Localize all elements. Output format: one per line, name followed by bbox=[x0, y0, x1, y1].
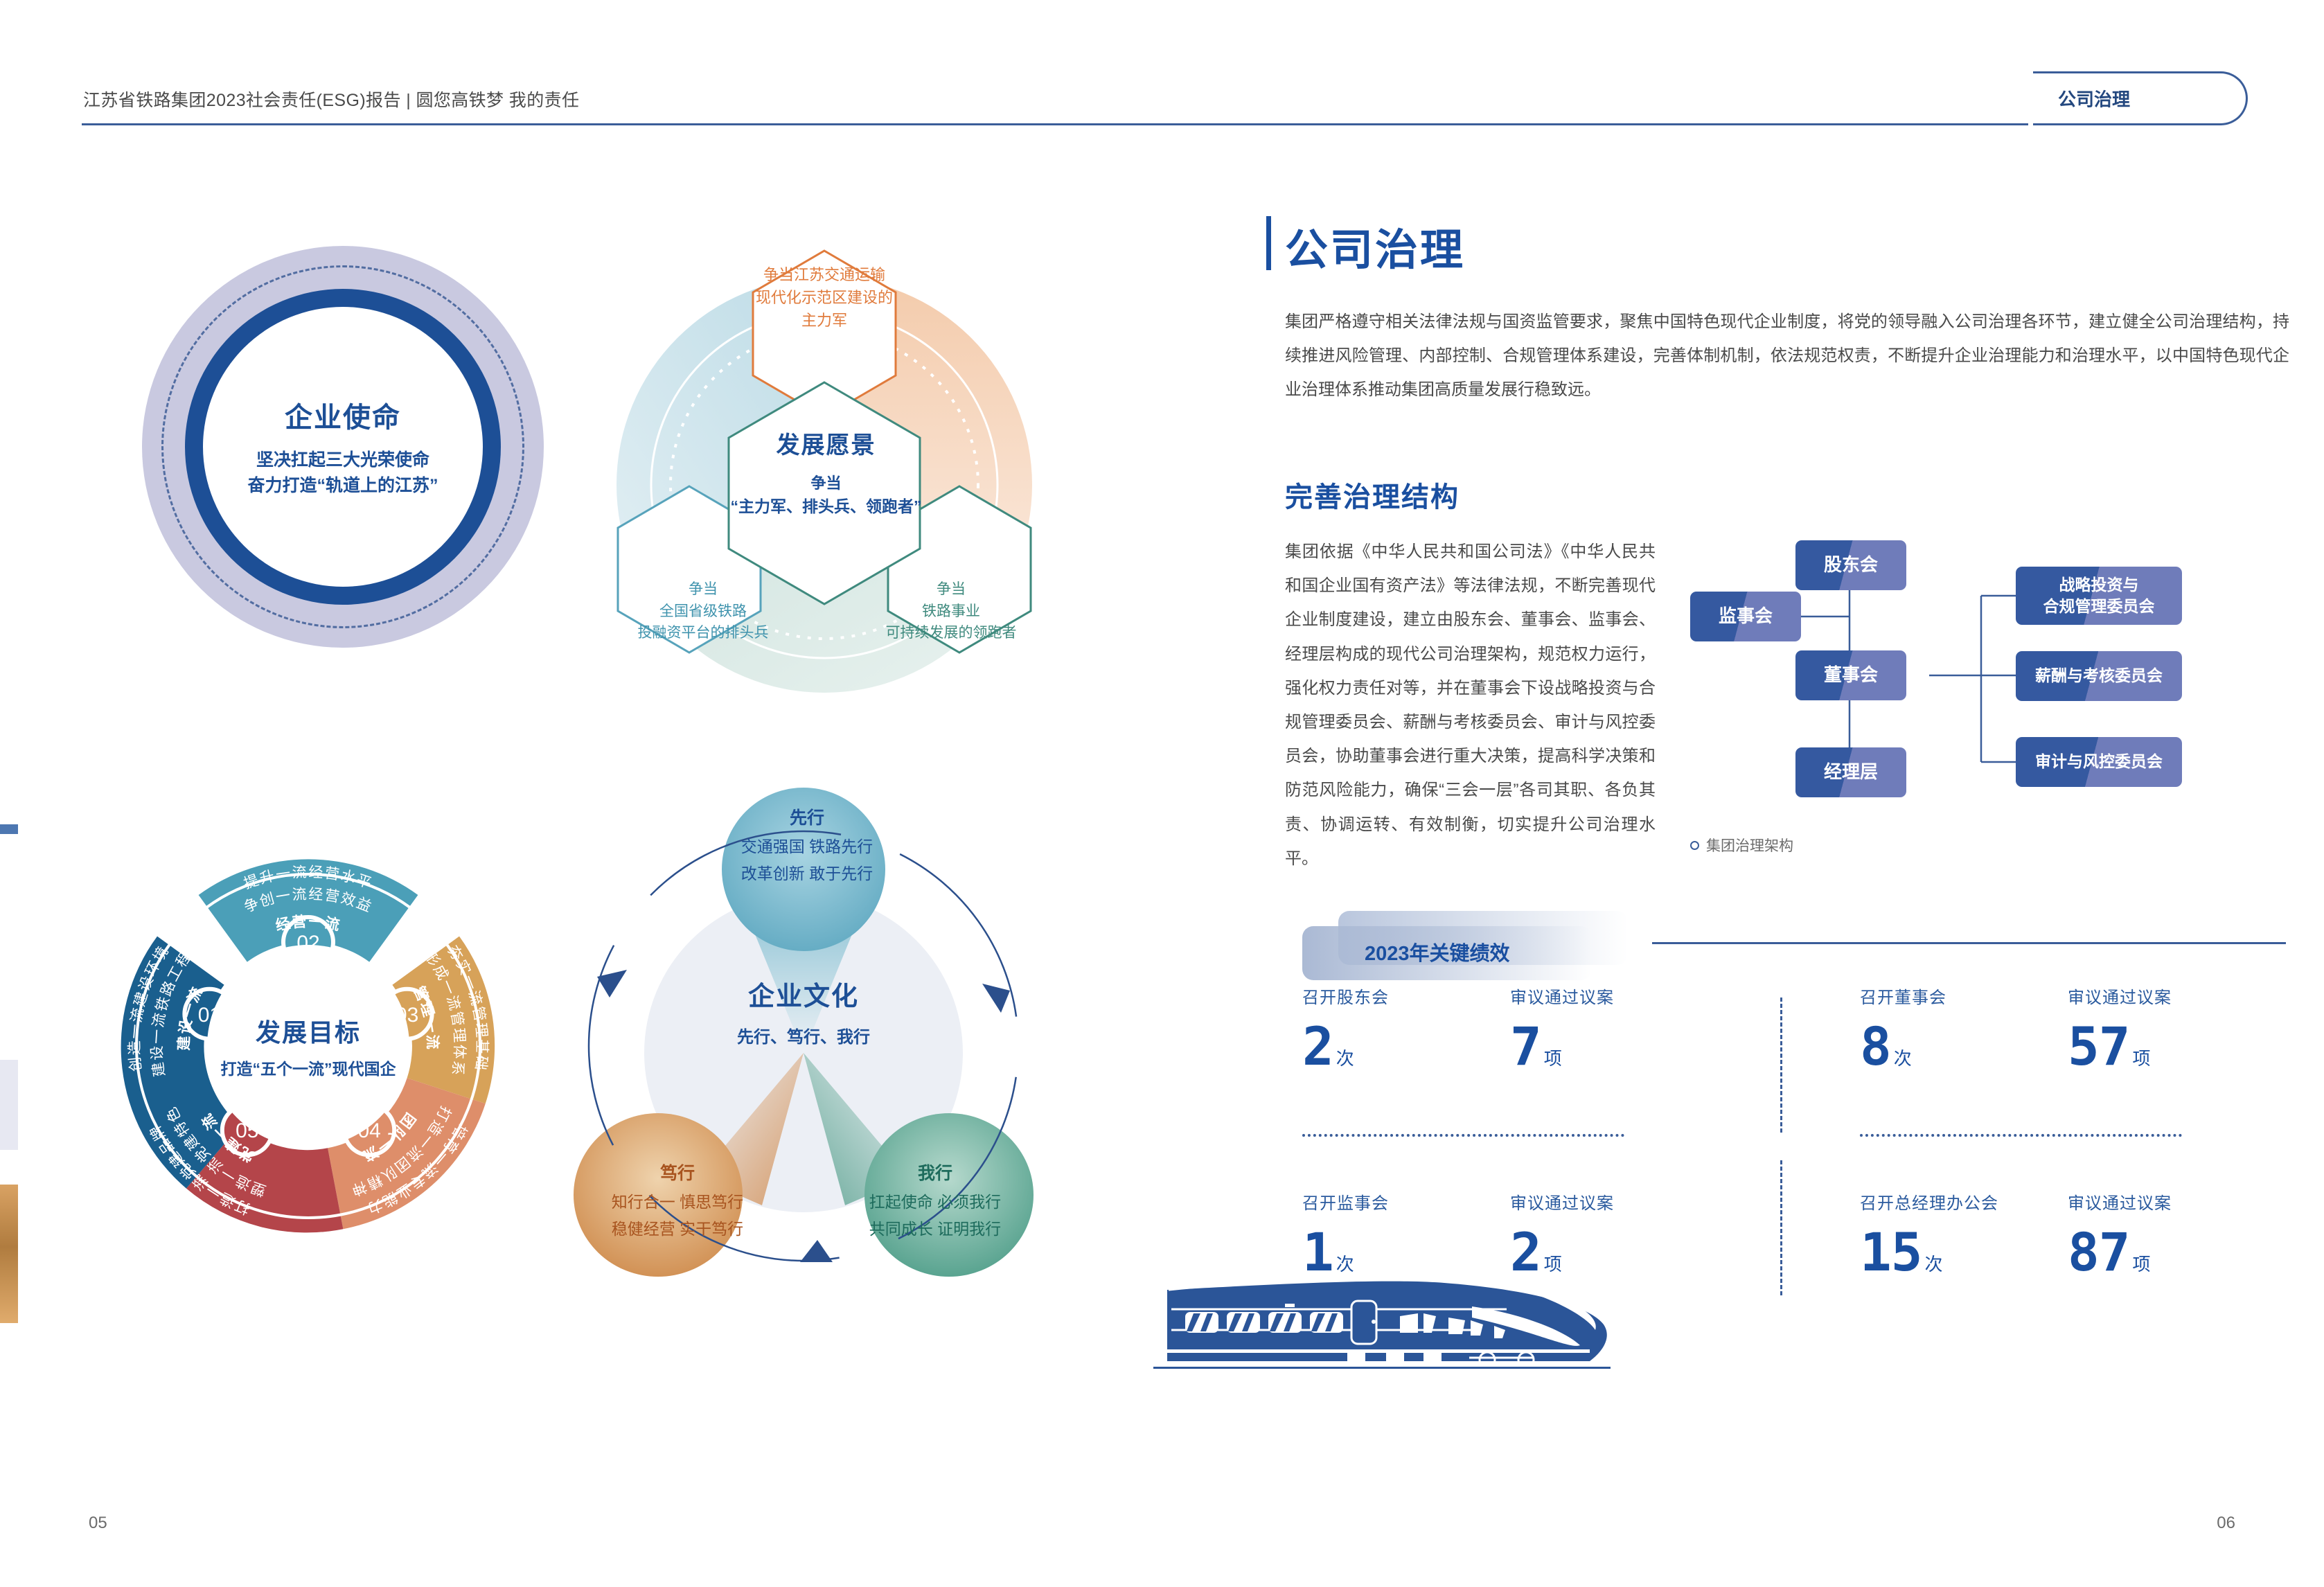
vision-top-line-2: 现代化示范区建设的 bbox=[700, 286, 949, 309]
culture-node-woxing: 我行 扛起使命 必须我行 共同成长 证明我行 bbox=[831, 1160, 1039, 1242]
vision-br-line-1: 争当 bbox=[847, 578, 1055, 601]
culture-node-3-line-2: 共同成长 证明我行 bbox=[831, 1217, 1039, 1242]
kpi-banner: 2023年关键绩效 bbox=[1302, 911, 1628, 980]
kpi-item-6-value: 15 bbox=[1860, 1226, 1922, 1279]
culture-node-2-line-2: 稳健经营 实干笃行 bbox=[574, 1217, 781, 1242]
kpi-item-0-unit: 次 bbox=[1336, 1045, 1354, 1070]
vision-hex-bottom-left: 争当 全国省级铁路 投融资平台的排头兵 bbox=[599, 578, 807, 644]
vision-hex-center: 发展愿景 争当 “主力军、排头兵、领跑者” bbox=[707, 428, 946, 519]
kpi-item-1-unit: 项 bbox=[1544, 1045, 1562, 1070]
kpi-item-7-unit: 项 bbox=[2133, 1250, 2151, 1276]
org-node-shareholders-label: 股东会 bbox=[1824, 553, 1878, 577]
org-node-management-label: 经理层 bbox=[1824, 760, 1878, 784]
section-tab-label: 公司治理 bbox=[2058, 86, 2130, 112]
page-edge-gold bbox=[0, 1185, 18, 1323]
arrow-right bbox=[982, 984, 1010, 1013]
caption-bullet-icon bbox=[1690, 841, 1699, 850]
culture-node-xianxing: 先行 交通强国 铁路先行 改革创新 敢于先行 bbox=[696, 805, 918, 887]
mission-line-1: 坚决扛起三大光荣使命 bbox=[256, 447, 429, 474]
vision-center-line-1: 争当 bbox=[707, 472, 946, 495]
kpi-item-7: 审议通过议案 87 项 bbox=[2068, 1189, 2172, 1279]
page-title-accent bbox=[1266, 216, 1271, 270]
org-chart-caption: 集团治理架构 bbox=[1690, 835, 1793, 855]
org-chart: 股东会 监事会 董事会 经理层 战略投资与合规管理委员会 薪酬与考核委员会 审计… bbox=[1690, 533, 2244, 824]
vision-top-line-1: 争当江苏交通运输 bbox=[700, 263, 949, 286]
section-body-governance: 集团依据《中华人民共和国公司法》《中华人民共和国企业国有资产法》等法律法规，不断… bbox=[1285, 535, 1656, 876]
kpi-item-7-value: 87 bbox=[2068, 1226, 2130, 1279]
culture-node-2-line-1: 知行合一 慎思笃行 bbox=[574, 1190, 781, 1215]
vision-br-line-3: 可持续发展的领跑者 bbox=[847, 622, 1055, 644]
kpi-row-2-divider bbox=[1780, 1160, 1782, 1295]
culture-title: 企业文化 bbox=[700, 977, 907, 1018]
page-title: 公司治理 bbox=[1285, 215, 1465, 277]
kpi-item-7-label: 审议通过议案 bbox=[2068, 1189, 2172, 1214]
kpi-item-5-label: 审议通过议案 bbox=[1510, 1189, 1614, 1214]
vision-hex-bottom-right: 争当 铁路事业 可持续发展的领跑者 bbox=[847, 578, 1055, 644]
kpi-row-1-divider bbox=[1780, 998, 1782, 1133]
kpi-item-2: 召开董事会 8 次 bbox=[1860, 984, 1946, 1073]
vision-hex-top: 争当江苏交通运输 现代化示范区建设的 主力军 bbox=[700, 263, 949, 332]
goals-subtitle: 打造“五个一流”现代国企 bbox=[221, 1056, 396, 1079]
org-node-supervisors-label: 监事会 bbox=[1719, 604, 1773, 628]
culture-node-1-line-1: 交通强国 铁路先行 bbox=[696, 835, 918, 860]
kpi-item-1: 审议通过议案 7 项 bbox=[1510, 984, 1614, 1073]
org-node-committee-comp-label: 薪酬与考核委员会 bbox=[2035, 665, 2163, 686]
kpi-item-3-value: 57 bbox=[2068, 1020, 2130, 1073]
org-node-supervisors: 监事会 bbox=[1690, 592, 1801, 641]
org-node-shareholders: 股东会 bbox=[1795, 540, 1906, 590]
mission-circle: 企业使命 坚决扛起三大光荣使命 奋力打造“轨道上的江苏” bbox=[142, 246, 544, 648]
kpi-item-1-label: 审议通过议案 bbox=[1510, 984, 1614, 1008]
section-tab: 公司治理 bbox=[2033, 71, 2248, 125]
kpi-item-3-unit: 项 bbox=[2133, 1045, 2151, 1070]
culture-node-3-line-1: 扛起使命 必须我行 bbox=[831, 1190, 1039, 1215]
header-rule bbox=[82, 123, 2028, 125]
kpi-row-1: 召开股东会 2 次 审议通过议案 7 项 召开董事会 8 次 bbox=[1302, 984, 2286, 1146]
kpi-item-2-label: 召开董事会 bbox=[1860, 984, 1946, 1008]
org-node-board: 董事会 bbox=[1795, 650, 1906, 700]
mission-title: 企业使命 bbox=[285, 395, 401, 435]
development-goals-wheel: 02 03 04 05 01 bbox=[104, 842, 513, 1250]
culture-center: 企业文化 先行、笃行、我行 bbox=[700, 977, 907, 1050]
arrow-bottom bbox=[800, 1240, 833, 1262]
kpi-item-6-label: 召开总经理办公会 bbox=[1860, 1189, 1998, 1214]
mission-core: 企业使命 坚决扛起三大光荣使命 奋力打造“轨道上的江苏” bbox=[203, 307, 483, 587]
kpi-item-1-value: 7 bbox=[1510, 1020, 1541, 1073]
kpi-item-6: 召开总经理办公会 15 次 bbox=[1860, 1189, 1998, 1279]
report-spread: 江苏省铁路集团2023社会责任(ESG)报告 | 圆您高铁梦 我的责任 公司治理… bbox=[0, 0, 2324, 1587]
culture-node-1-heading: 先行 bbox=[696, 805, 918, 832]
kpi-item-4-label: 召开监事会 bbox=[1302, 1189, 1389, 1214]
culture-subtitle: 先行、笃行、我行 bbox=[700, 1025, 907, 1050]
kpi-separator-right bbox=[1860, 1134, 2182, 1137]
vision-br-line-2: 铁路事业 bbox=[847, 601, 1055, 623]
intro-paragraph: 集团严格遵守相关法律法规与国资监管要求，聚焦中国特色现代企业制度，将党的领导融入… bbox=[1285, 305, 2289, 407]
org-node-committee-strategy: 战略投资与合规管理委员会 bbox=[2016, 567, 2182, 625]
vision-top-line-3: 主力军 bbox=[700, 309, 949, 332]
kpi-banner-label: 2023年关键绩效 bbox=[1365, 937, 1510, 966]
vision-bl-line-2: 全国省级铁路 bbox=[599, 601, 807, 623]
mission-line-2: 奋力打造“轨道上的江苏” bbox=[247, 473, 438, 499]
org-node-committee-audit-label: 审计与风控委员会 bbox=[2035, 751, 2163, 772]
vision-bl-line-1: 争当 bbox=[599, 578, 807, 601]
org-node-committee-strategy-label: 战略投资与合规管理委员会 bbox=[2043, 574, 2155, 617]
goals-title: 发展目标 bbox=[256, 1013, 361, 1049]
goals-center: 发展目标 打造“五个一流”现代国企 bbox=[207, 945, 409, 1147]
kpi-item-0-label: 召开股东会 bbox=[1302, 984, 1389, 1008]
running-head: 江苏省铁路集团2023社会责任(ESG)报告 | 圆您高铁梦 我的责任 bbox=[83, 87, 579, 112]
kpi-item-3-label: 审议通过议案 bbox=[2068, 984, 2172, 1008]
org-node-board-label: 董事会 bbox=[1824, 663, 1878, 687]
page-edge-blue bbox=[0, 824, 18, 834]
culture-node-2-heading: 笃行 bbox=[574, 1160, 781, 1187]
train-icon bbox=[1146, 1240, 1631, 1389]
page-number-right: 06 bbox=[2217, 1514, 2235, 1533]
kpi-banner-rule bbox=[1652, 942, 2286, 944]
culture-node-duxing: 笃行 知行合一 慎思笃行 稳健经营 实干笃行 bbox=[574, 1160, 781, 1242]
kpi-item-0-value: 2 bbox=[1302, 1020, 1333, 1073]
corporate-culture-diagram: 先行 交通强国 铁路先行 改革创新 敢于先行 笃行 知行合一 慎思笃行 稳健经营… bbox=[554, 762, 1053, 1309]
vision-hexagon-diagram: 争当江苏交通运输 现代化示范区建设的 主力军 发展愿景 争当 “主力军、排头兵、… bbox=[585, 229, 1063, 707]
culture-node-3-heading: 我行 bbox=[831, 1160, 1039, 1187]
kpi-separator-left bbox=[1302, 1134, 1624, 1137]
culture-node-1-line-2: 改革创新 敢于先行 bbox=[696, 862, 918, 887]
org-node-committee-audit: 审计与风控委员会 bbox=[2016, 737, 2182, 787]
org-chart-caption-label: 集团治理架构 bbox=[1706, 835, 1793, 855]
org-node-management: 经理层 bbox=[1795, 747, 1906, 797]
kpi-item-6-unit: 次 bbox=[1925, 1250, 1943, 1276]
org-node-committee-comp: 薪酬与考核委员会 bbox=[2016, 651, 2182, 701]
page-edge-lavender bbox=[0, 1060, 18, 1150]
page-number-left: 05 bbox=[89, 1514, 107, 1533]
kpi-item-2-value: 8 bbox=[1860, 1020, 1891, 1073]
vision-title: 发展愿景 bbox=[707, 428, 946, 463]
vision-center-line-2: “主力军、排头兵、领跑者” bbox=[707, 495, 946, 519]
kpi-item-0: 召开股东会 2 次 bbox=[1302, 984, 1389, 1073]
kpi-item-2-unit: 次 bbox=[1894, 1045, 1912, 1070]
high-speed-train-illustration bbox=[1146, 1240, 1631, 1389]
kpi-item-3: 审议通过议案 57 项 bbox=[2068, 984, 2172, 1073]
section-heading-governance: 完善治理结构 bbox=[1285, 475, 1460, 515]
vision-bl-line-3: 投融资平台的排头兵 bbox=[599, 622, 807, 644]
